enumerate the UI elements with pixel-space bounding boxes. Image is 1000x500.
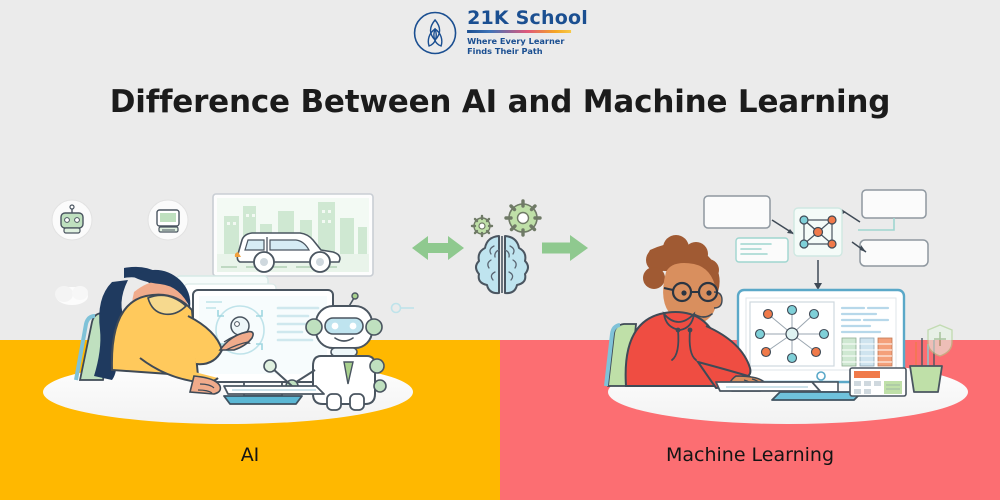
- gear-small-icon: [472, 216, 492, 236]
- neural-network-node-icon: [794, 208, 842, 256]
- page-title: Difference Between AI and Machine Learni…: [0, 84, 1000, 120]
- center-transition-graphic: [400, 192, 600, 300]
- device-chip-badge-icon: [148, 200, 188, 240]
- gear-large-icon: [506, 201, 540, 235]
- infographic-canvas: 21K School Where Every Learner Finds The…: [0, 0, 1000, 500]
- double-headed-arrow-icon: [412, 236, 466, 260]
- brain-icon: [476, 236, 528, 293]
- data-table-chart: [842, 338, 892, 366]
- shield-badge-icon: [928, 325, 952, 356]
- flowchart-node-boxes: [704, 190, 928, 290]
- brand-name: 21K School: [467, 9, 588, 28]
- code-snippet-card: [736, 238, 788, 262]
- brand-logo: 21K School Where Every Learner Finds The…: [412, 9, 588, 57]
- calculator-device: [850, 368, 906, 396]
- ml-illustration: [598, 180, 978, 425]
- lotus-circle-logo-icon: [412, 10, 458, 56]
- ai-illustration: [28, 180, 418, 425]
- brand-tagline-line2: Finds Their Path: [467, 46, 543, 56]
- robot-badge-icon: [52, 200, 92, 240]
- network-graph-chart: [750, 302, 834, 366]
- brand-tagline-line1: Where Every Learner: [467, 36, 564, 46]
- brand-gradient-rule: [467, 30, 571, 33]
- right-panel-caption: Machine Learning: [500, 444, 1000, 466]
- self-driving-car-screen: [213, 194, 373, 276]
- cloud-icon: [55, 286, 88, 305]
- deco-dot: [392, 304, 401, 313]
- right-arrow-icon: [542, 235, 588, 261]
- keyboard: [224, 386, 324, 394]
- left-panel-caption: AI: [0, 444, 500, 466]
- keyboard: [716, 382, 820, 391]
